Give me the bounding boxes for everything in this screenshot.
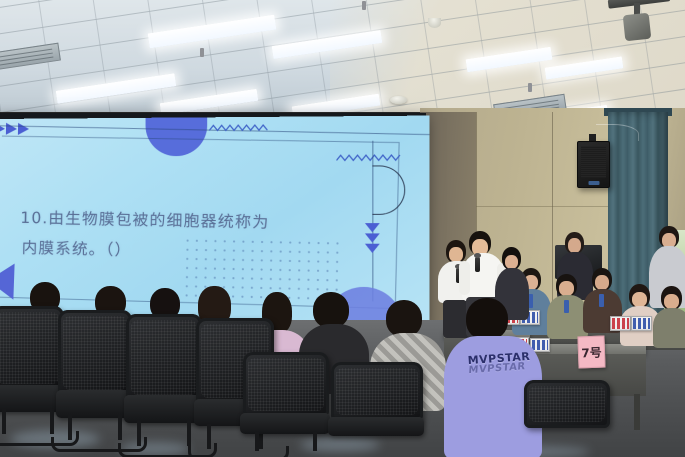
table-number-card: 7号 <box>577 336 605 369</box>
sprinkler-head <box>200 48 204 57</box>
wall-panel-line <box>476 206 608 207</box>
ceiling-speaker-dome <box>428 18 441 28</box>
face <box>632 292 647 307</box>
chair[interactable] <box>243 352 329 457</box>
slide-half-circle-right-decor <box>372 165 405 215</box>
chair-seat <box>328 417 424 436</box>
head <box>466 298 508 340</box>
face <box>595 275 609 290</box>
face <box>449 247 463 262</box>
face <box>664 294 679 309</box>
chair-back <box>524 380 610 428</box>
answer-card-blue[interactable] <box>631 316 652 331</box>
chair-back <box>58 310 132 396</box>
answer-card-red[interactable] <box>610 316 631 331</box>
torso <box>653 308 685 348</box>
wall-seam <box>552 112 553 320</box>
projector-body <box>623 13 652 42</box>
sprinkler-head <box>528 83 532 92</box>
speaker-grill <box>581 146 606 178</box>
chair[interactable] <box>331 362 423 457</box>
slide-question-text: 10.由生物膜包被的细胞器统称为 内膜系统。（） <box>19 204 360 271</box>
slide-triangle-decor <box>0 263 15 300</box>
lanyard <box>564 300 569 313</box>
slide-zigzag-decor <box>209 123 269 133</box>
table-leg <box>634 394 640 430</box>
chair-back <box>0 306 64 390</box>
face <box>559 281 574 296</box>
microphone[interactable] <box>475 257 480 272</box>
wall-speaker <box>577 141 610 188</box>
face <box>505 255 518 269</box>
speaker-badge <box>588 181 599 185</box>
chair[interactable] <box>524 380 610 457</box>
head <box>313 292 349 328</box>
shirt-logo-text: MVPSTAR MVPSTAR <box>467 350 531 376</box>
lanyard <box>599 294 604 307</box>
classroom-photo-scene: 10.由生物膜包被的细胞器统称为 内膜系统。（） <box>0 0 685 457</box>
chair-seat <box>124 395 203 423</box>
head <box>386 300 422 337</box>
speaker-cable <box>596 124 639 141</box>
arm-left <box>459 261 470 295</box>
face <box>568 238 581 253</box>
chair-back <box>243 352 329 417</box>
chair-back <box>126 314 202 401</box>
chair-seat <box>240 413 329 434</box>
chair-back <box>331 362 423 421</box>
chair-seat <box>56 390 133 418</box>
chair[interactable] <box>126 314 202 454</box>
slide-zigzag-decor <box>336 153 402 163</box>
smoke-detector <box>390 96 407 104</box>
sprinkler-head <box>362 1 366 10</box>
slide-down-arrow-stack-decor <box>365 223 380 253</box>
chair[interactable] <box>0 306 64 442</box>
chair[interactable] <box>58 310 132 448</box>
